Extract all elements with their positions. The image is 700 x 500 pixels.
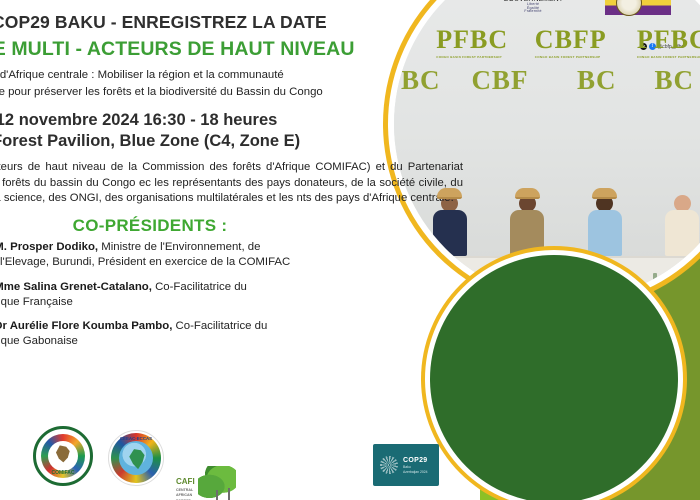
copresident-2-role2: République Française (0, 296, 73, 308)
cafi-logo-label: CAFI (176, 478, 195, 486)
straw-hat-icon (437, 188, 462, 199)
gouvernement-logo: GOUVERNEMENT LibertéÉgalitéFraternité (503, 0, 563, 14)
description-paragraph: multi-acteurs de haut niveau de la Commi… (0, 160, 463, 207)
poster-canvas: GOUVERNEMENT LibertéÉgalitéFraternité ✕ … (0, 0, 700, 500)
copresident-1-role: Ministre de l'Environnement, de (98, 241, 260, 253)
subtitle-text: forêts d'Afrique centrale : Mobiliser la… (0, 67, 440, 100)
straw-hat-icon (515, 188, 540, 199)
eccas-logo-mark: CEEAC-ECCAS (108, 430, 164, 486)
backdrop-word-cbfp-1: CBFPCONGO BASIN FOREST PARTNERSHIP (535, 25, 607, 59)
comifac-logo-mark: COMIFAC (33, 426, 93, 486)
panelist-body (665, 210, 699, 256)
panelist-body (510, 210, 544, 256)
copresident-3-role: Co-Facilitatrice du (172, 320, 267, 332)
straw-hat-icon (592, 188, 617, 199)
backdrop-word-bc-2: BC (577, 65, 617, 96)
cafi-logo-sub: CENTRALAFRICANFORESTINITIATIVE (176, 488, 194, 500)
copresident-1: lence M. Prosper Dodiko, Ministre de l'E… (0, 240, 442, 271)
when-where-block: i, 12 novembre 2024 16:30 - 18 heures : … (0, 110, 470, 152)
panelist-4 (665, 195, 699, 256)
copresident-2: lence Mme Salina Grenet-Catalano, Co-Fac… (0, 280, 442, 311)
panelist-2 (510, 188, 544, 256)
eccas-ceeac-logo: CEEAC-ECCAS (108, 430, 164, 486)
subtitle-line-1: forêts d'Afrique centrale : Mobiliser la… (0, 67, 440, 84)
tree-trunk-icon (228, 488, 231, 500)
backdrop-word-pfbc-2: PFBCCONGO BASIN FOREST PARTNERSHIP (637, 25, 700, 59)
subtitle-line-2: ationale pour préserver les forêts et la… (0, 84, 440, 101)
pfbc-logo: P PFBC (0, 414, 20, 466)
africa-map-icon (129, 449, 146, 469)
comifac-logo-label: COMIFAC (36, 470, 90, 476)
copresident-3: lence Dr Aurélie Flore Koumba Pambo, Co-… (0, 319, 442, 350)
cop29-logo-label: COP29 (403, 457, 427, 464)
cop29-logo-mark: COP29 BakuAzerbaijan 2024 (373, 444, 439, 486)
venue-line: : Forest Pavilion, Blue Zone (C4, Zone E… (0, 131, 470, 152)
copresidents-heading: CO-PRÉSIDENTS : (0, 216, 300, 236)
copresident-1-name: lence M. Prosper Dodiko, (0, 241, 98, 253)
date-line: i, 12 novembre 2024 16:30 - 18 heures (0, 110, 470, 131)
cop29-logo: COP29 BakuAzerbaijan 2024 (373, 444, 439, 486)
tree-trunk-icon (216, 490, 219, 500)
panelist-3 (588, 188, 622, 256)
kicker-title: COP29 BAKU - ENREGISTREZ LA DATE (0, 12, 470, 33)
cafi-logo: CAFI CENTRALAFRICANFORESTINITIATIVE (176, 466, 238, 500)
copresident-3-name: lence Dr Aurélie Flore Koumba Pambo, (0, 320, 172, 332)
copresident-2-name: lence Mme Salina Grenet-Catalano, (0, 281, 152, 293)
copresident-3-role2: République Gabonaise (0, 335, 78, 347)
comifac-logo: COMIFAC (33, 426, 93, 486)
gouvernement-motto: LibertéÉgalitéFraternité (503, 3, 563, 14)
backdrop-word-bc-3: BC (654, 65, 694, 96)
copresident-1-role2: e et de l'Elevage, Burundi, Président en… (0, 256, 290, 268)
cop29-logo-sub: BakuAzerbaijan 2024 (403, 465, 428, 474)
eccas-logo-label: CEEAC-ECCAS (109, 436, 163, 441)
backdrop-word-cbf-1: CBF (471, 65, 528, 96)
panelist-body (588, 210, 622, 256)
africa-map-icon (55, 445, 71, 462)
copresident-2-role: Co-Facilitatrice du (152, 281, 247, 293)
cop29-leaf-icon (380, 456, 398, 474)
footer-logo-strip: P PFBC COMIFAC CEEAC-ECCAS CAFI CENTRALA… (0, 422, 470, 494)
headline-title: OGUE MULTI - ACTEURS DE HAUT NIVEAU (0, 38, 470, 61)
poster-text-column: COP29 BAKU - ENREGISTREZ LA DATE OGUE MU… (0, 0, 470, 359)
